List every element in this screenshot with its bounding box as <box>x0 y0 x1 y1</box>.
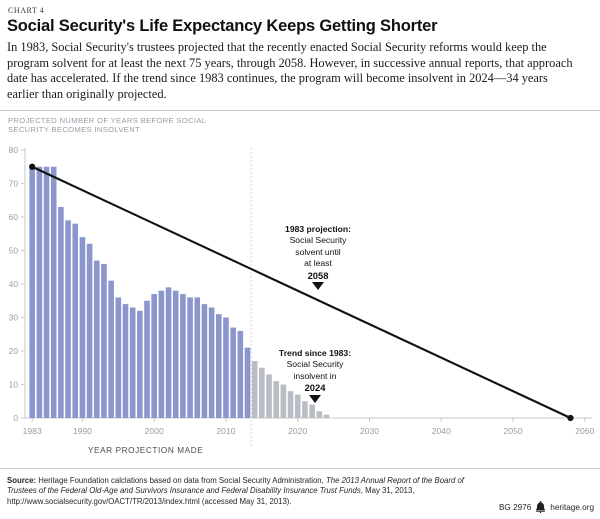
svg-text:1983: 1983 <box>23 426 42 436</box>
svg-text:10: 10 <box>9 380 19 390</box>
annotation-trend-line2: insolvent in <box>256 371 374 382</box>
svg-text:40: 40 <box>9 279 19 289</box>
annotation-1983-heading: 1983 projection: <box>258 224 378 235</box>
svg-text:2050: 2050 <box>503 426 522 436</box>
divider-bottom <box>0 468 600 469</box>
svg-text:50: 50 <box>9 246 19 256</box>
source-label: Source: <box>7 476 36 485</box>
annotation-trend-year: 2024 <box>256 382 374 393</box>
svg-text:2040: 2040 <box>432 426 451 436</box>
site-url: heritage.org <box>550 503 594 512</box>
chart-description: In 1983, Social Security's trustees proj… <box>7 40 579 102</box>
svg-text:20: 20 <box>9 346 19 356</box>
chart-page: CHART 4 Social Security's Life Expectanc… <box>0 0 600 519</box>
source-text-1: Heritage Foundation calclations based on… <box>36 476 326 485</box>
footer-credit: BG 2976 heritage.org <box>499 501 594 513</box>
svg-text:30: 30 <box>9 313 19 323</box>
svg-text:1990: 1990 <box>73 426 92 436</box>
svg-text:2060: 2060 <box>575 426 594 436</box>
annotation-1983-pointer-icon <box>312 282 324 290</box>
source-note: Source: Heritage Foundation calclations … <box>7 476 477 507</box>
report-number: BG 2976 <box>499 503 531 512</box>
liberty-bell-icon <box>535 501 546 513</box>
annotation-trend-heading: Trend since 1983: <box>256 348 374 359</box>
chart-number: CHART 4 <box>8 6 44 15</box>
svg-text:70: 70 <box>9 179 19 189</box>
x-axis-title: YEAR PROJECTION MADE <box>88 446 203 455</box>
annotation-trend-pointer-icon <box>309 395 321 403</box>
svg-text:0: 0 <box>13 413 18 423</box>
divider-top <box>0 110 600 111</box>
annotation-1983-year: 2058 <box>258 270 378 281</box>
svg-text:80: 80 <box>9 145 19 155</box>
svg-text:2020: 2020 <box>288 426 307 436</box>
svg-text:60: 60 <box>9 212 19 222</box>
annotation-1983-line3: at least <box>258 258 378 269</box>
svg-text:2010: 2010 <box>216 426 235 436</box>
annotation-1983-projection: 1983 projection: Social Security solvent… <box>258 224 378 290</box>
page-title: Social Security's Life Expectancy Keeps … <box>7 16 587 36</box>
annotation-trend: Trend since 1983: Social Security insolv… <box>256 348 374 403</box>
annotation-trend-line1: Social Security <box>256 359 374 370</box>
svg-text:2000: 2000 <box>145 426 164 436</box>
annotation-1983-line1: Social Security <box>258 235 378 246</box>
annotation-1983-line2: solvent until <box>258 247 378 258</box>
svg-text:2030: 2030 <box>360 426 379 436</box>
